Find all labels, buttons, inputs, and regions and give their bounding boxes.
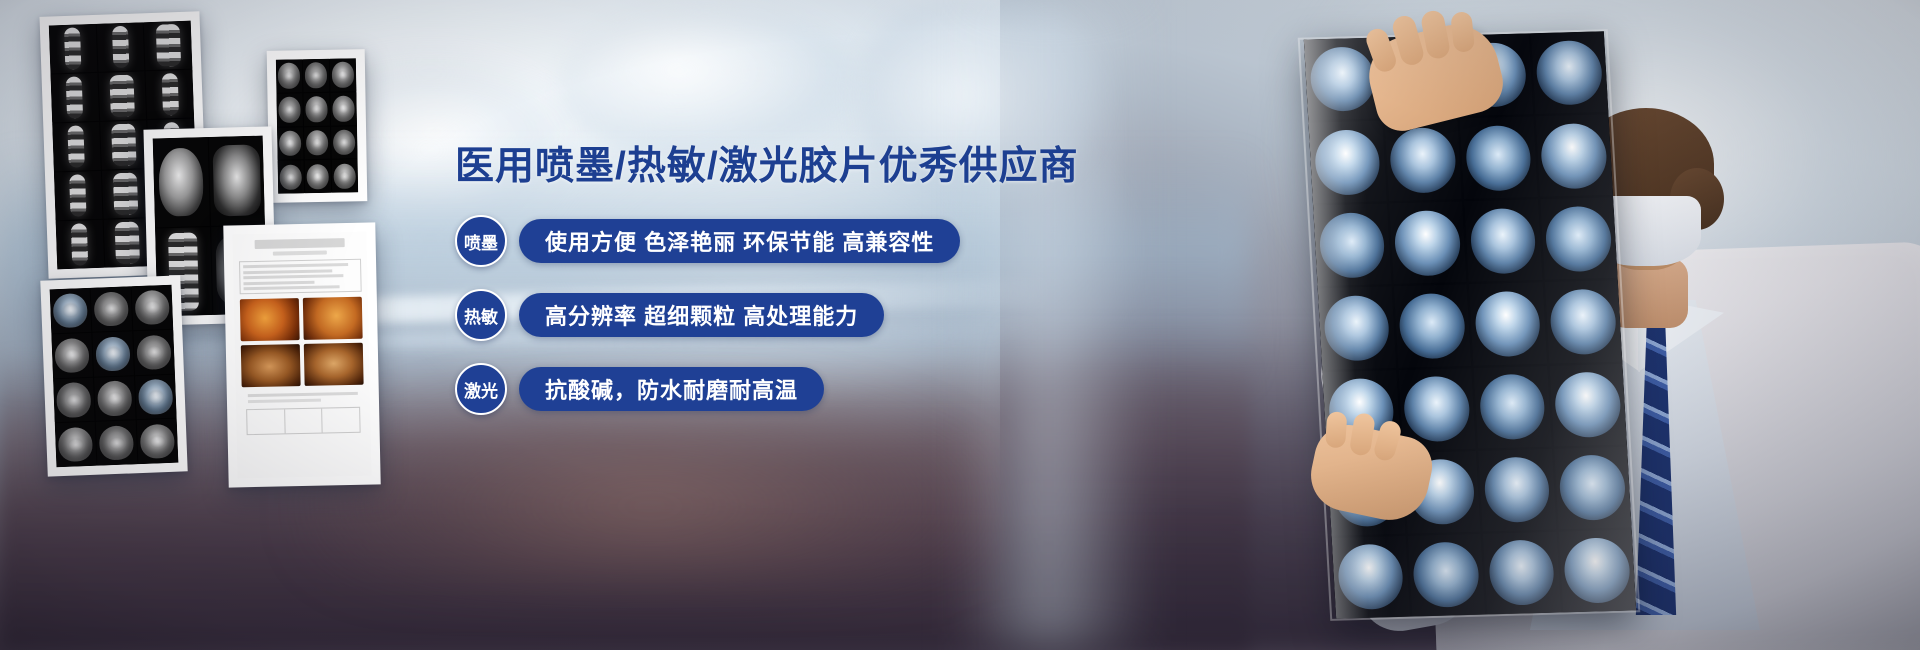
feature-text-laser: 抗酸碱，防水耐磨耐高温 [519, 367, 824, 411]
feature-badge-inkjet: 喷墨 [455, 215, 507, 267]
feature-list: 喷墨 使用方便 色泽艳丽 环保节能 高兼容性 热敏 高分辨率 超细颗粒 高处理能… [455, 215, 1095, 415]
film-sheet-brain-mri-top [267, 49, 368, 203]
banner-content: 医用喷墨/热敏/激光胶片优秀供应商 喷墨 使用方便 色泽艳丽 环保节能 高兼容性… [455, 120, 1095, 437]
feature-row-inkjet: 喷墨 使用方便 色泽艳丽 环保节能 高兼容性 [455, 215, 1095, 267]
page-title: 医用喷墨/热敏/激光胶片优秀供应商 [455, 146, 1095, 189]
feature-text-inkjet: 使用方便 色泽艳丽 环保节能 高兼容性 [519, 219, 960, 263]
medical-film-stack [0, 0, 420, 650]
film-sheet-brain-mri-bottom [40, 275, 187, 476]
film-sheet-report-page [223, 222, 380, 487]
hero-banner: 医用喷墨/热敏/激光胶片优秀供应商 喷墨 使用方便 色泽艳丽 环保节能 高兼容性… [0, 0, 1920, 650]
held-mri-film-sheet [1304, 31, 1636, 618]
feature-text-thermal: 高分辨率 超细颗粒 高处理能力 [519, 293, 884, 337]
feature-badge-laser: 激光 [455, 363, 507, 415]
doctor-figure [1060, 0, 1920, 650]
feature-row-laser: 激光 抗酸碱，防水耐磨耐高温 [455, 363, 1095, 415]
feature-row-thermal: 热敏 高分辨率 超细颗粒 高处理能力 [455, 289, 1095, 341]
feature-badge-thermal: 热敏 [455, 289, 507, 341]
